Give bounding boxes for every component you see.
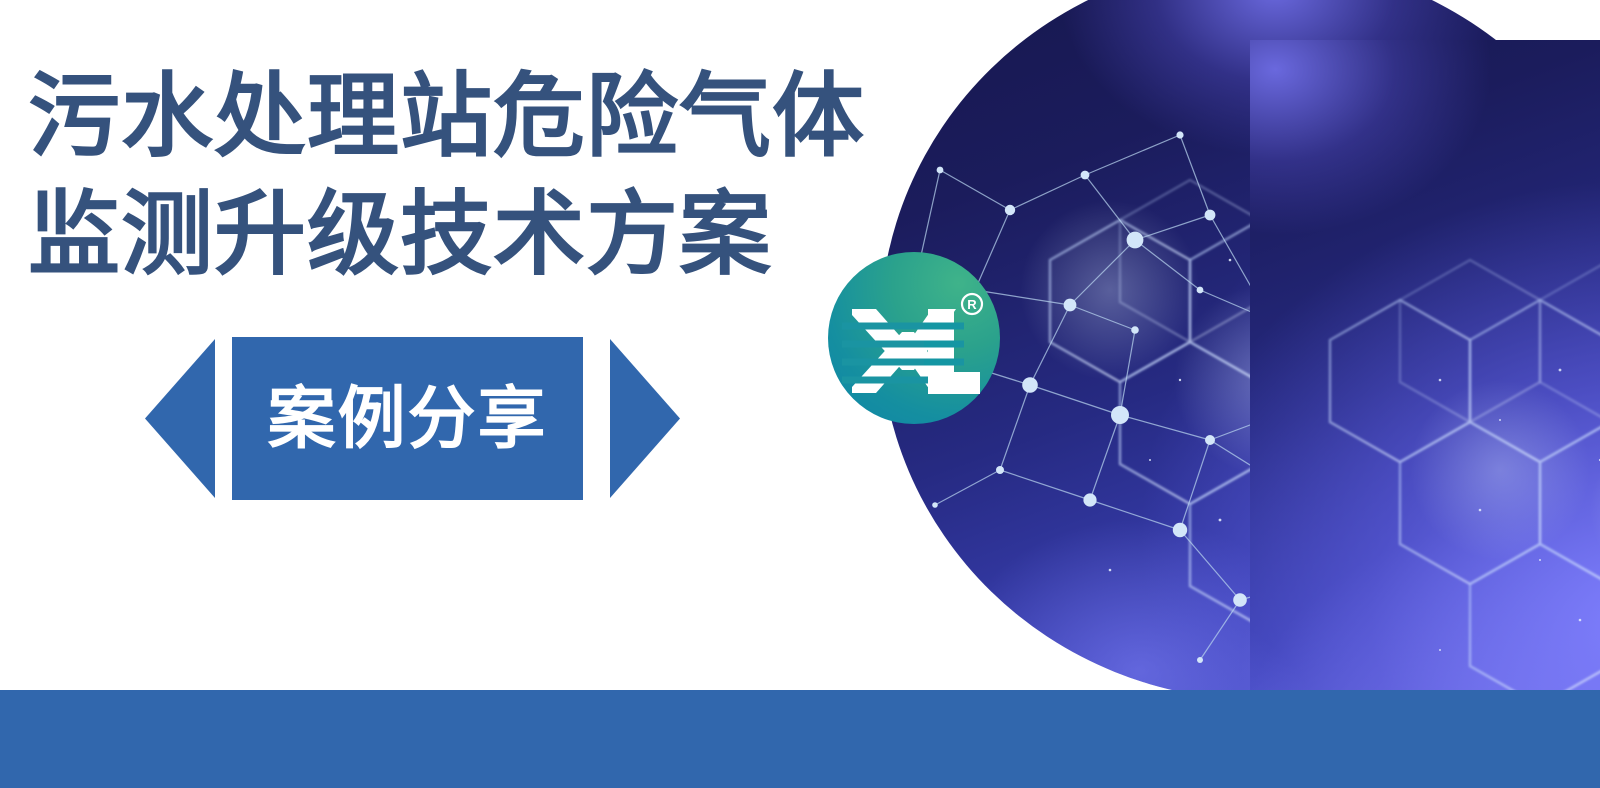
svg-text:R: R (967, 297, 977, 312)
page-title: 污水处理站危险气体 监测升级技术方案 (28, 58, 865, 294)
triangle-left-icon (145, 339, 215, 498)
triangle-right-icon (610, 339, 680, 498)
bottom-color-bar (0, 690, 1600, 788)
case-study-label: 案例分享 (267, 385, 547, 453)
page-title-line-1: 污水处理站危险气体 (28, 58, 865, 176)
registered-trademark-icon: R (962, 294, 982, 314)
tech-artwork-right-spill (1250, 0, 1600, 690)
case-study-label-box: 案例分享 (232, 337, 583, 500)
artwork-hexagons-right (1250, 40, 1600, 690)
page-title-line-2: 监测升级技术方案 (28, 176, 865, 294)
case-study-banner: 案例分享 (145, 337, 680, 500)
poster-canvas: R 污水处理站危险气体 监测升级技术方案 案例分享 (0, 0, 1600, 788)
